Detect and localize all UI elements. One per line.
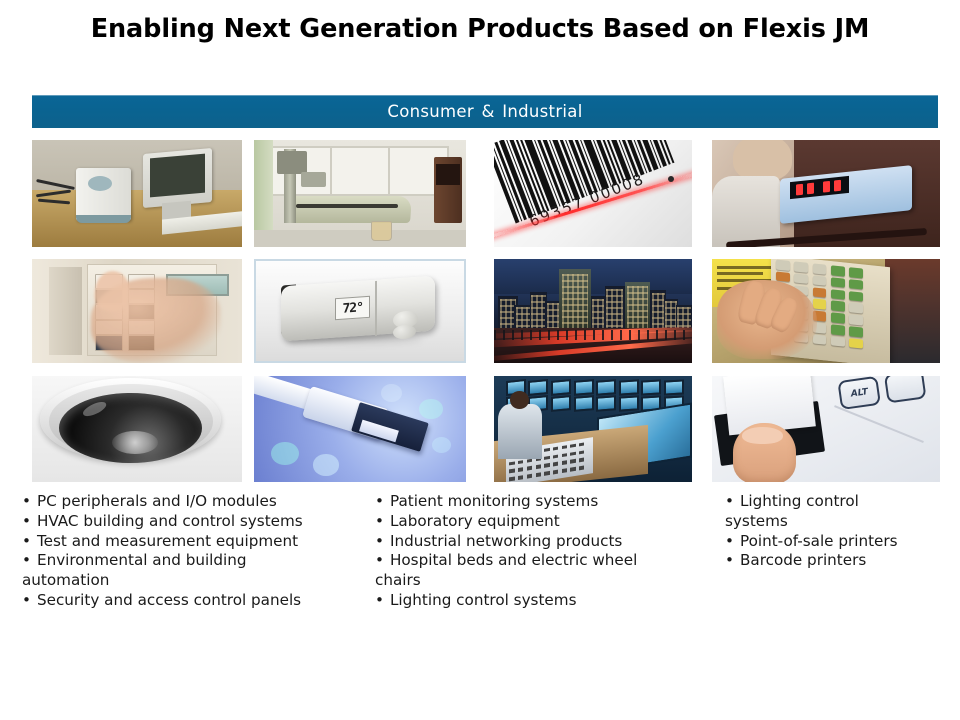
printer-key xyxy=(883,376,927,404)
bullet-item: Point-of-sale printers xyxy=(725,532,950,552)
bullet-item: Laboratory equipment xyxy=(375,512,720,532)
pos-register-photo xyxy=(712,259,940,363)
building xyxy=(605,286,625,328)
bullet-item: PC peripherals and I/O modules xyxy=(22,492,372,512)
city-skyline-photo xyxy=(494,259,692,363)
page-title: Enabling Next Generation Products Based … xyxy=(0,14,960,44)
bullet-item: systems xyxy=(725,512,950,532)
bullet-item: HVAC building and control systems xyxy=(22,512,372,532)
bullet-item: Hospital beds and electric wheel xyxy=(375,551,720,571)
bullet-item: Barcode printers xyxy=(725,551,950,571)
building xyxy=(559,269,591,327)
bullet-item: Test and measurement equipment xyxy=(22,532,372,552)
bullet-list-column-1: PC peripherals and I/O modulesHVAC build… xyxy=(22,492,372,611)
bullet-list-column-2: Patient monitoring systemsLaboratory equ… xyxy=(375,492,720,611)
building xyxy=(625,282,651,328)
building xyxy=(591,296,605,327)
pc-peripheral-photo xyxy=(32,140,242,247)
usb-connector-photo xyxy=(254,376,466,482)
category-banner-label: Consumer & Industrial xyxy=(387,102,582,121)
bullet-item: Lighting control xyxy=(725,492,950,512)
bullet-item: Patient monitoring systems xyxy=(375,492,720,512)
bullet-item: Lighting control systems xyxy=(375,591,720,611)
receipt-printer-photo: ALT xyxy=(712,376,940,482)
category-banner: Consumer & Industrial xyxy=(32,95,938,128)
bullet-item: Environmental and building xyxy=(22,551,372,571)
thermostat-display: 72° xyxy=(342,300,362,316)
thermostat-photo: 72° xyxy=(254,259,466,363)
bullet-item: automation xyxy=(22,571,372,591)
patient-monitor-photo xyxy=(712,140,940,247)
bullet-item: Security and access control panels xyxy=(22,591,372,611)
bullet-item: chairs xyxy=(375,571,720,591)
dome-camera-photo xyxy=(32,376,242,482)
control-room-photo xyxy=(494,376,692,482)
alt-key: ALT xyxy=(837,376,881,410)
barcode-scan-photo: 69357 00008 xyxy=(494,140,692,247)
building xyxy=(676,305,692,328)
city-buildings xyxy=(494,259,692,363)
photo-gallery: 69357 00008 72° xyxy=(32,140,940,482)
security-keypad-photo xyxy=(32,259,242,363)
bullet-item: Industrial networking products xyxy=(375,532,720,552)
bullet-list-column-3: Lighting controlsystemsPoint-of-sale pri… xyxy=(725,492,950,571)
barcode-bars xyxy=(494,140,675,224)
hospital-bed-photo xyxy=(254,140,466,247)
